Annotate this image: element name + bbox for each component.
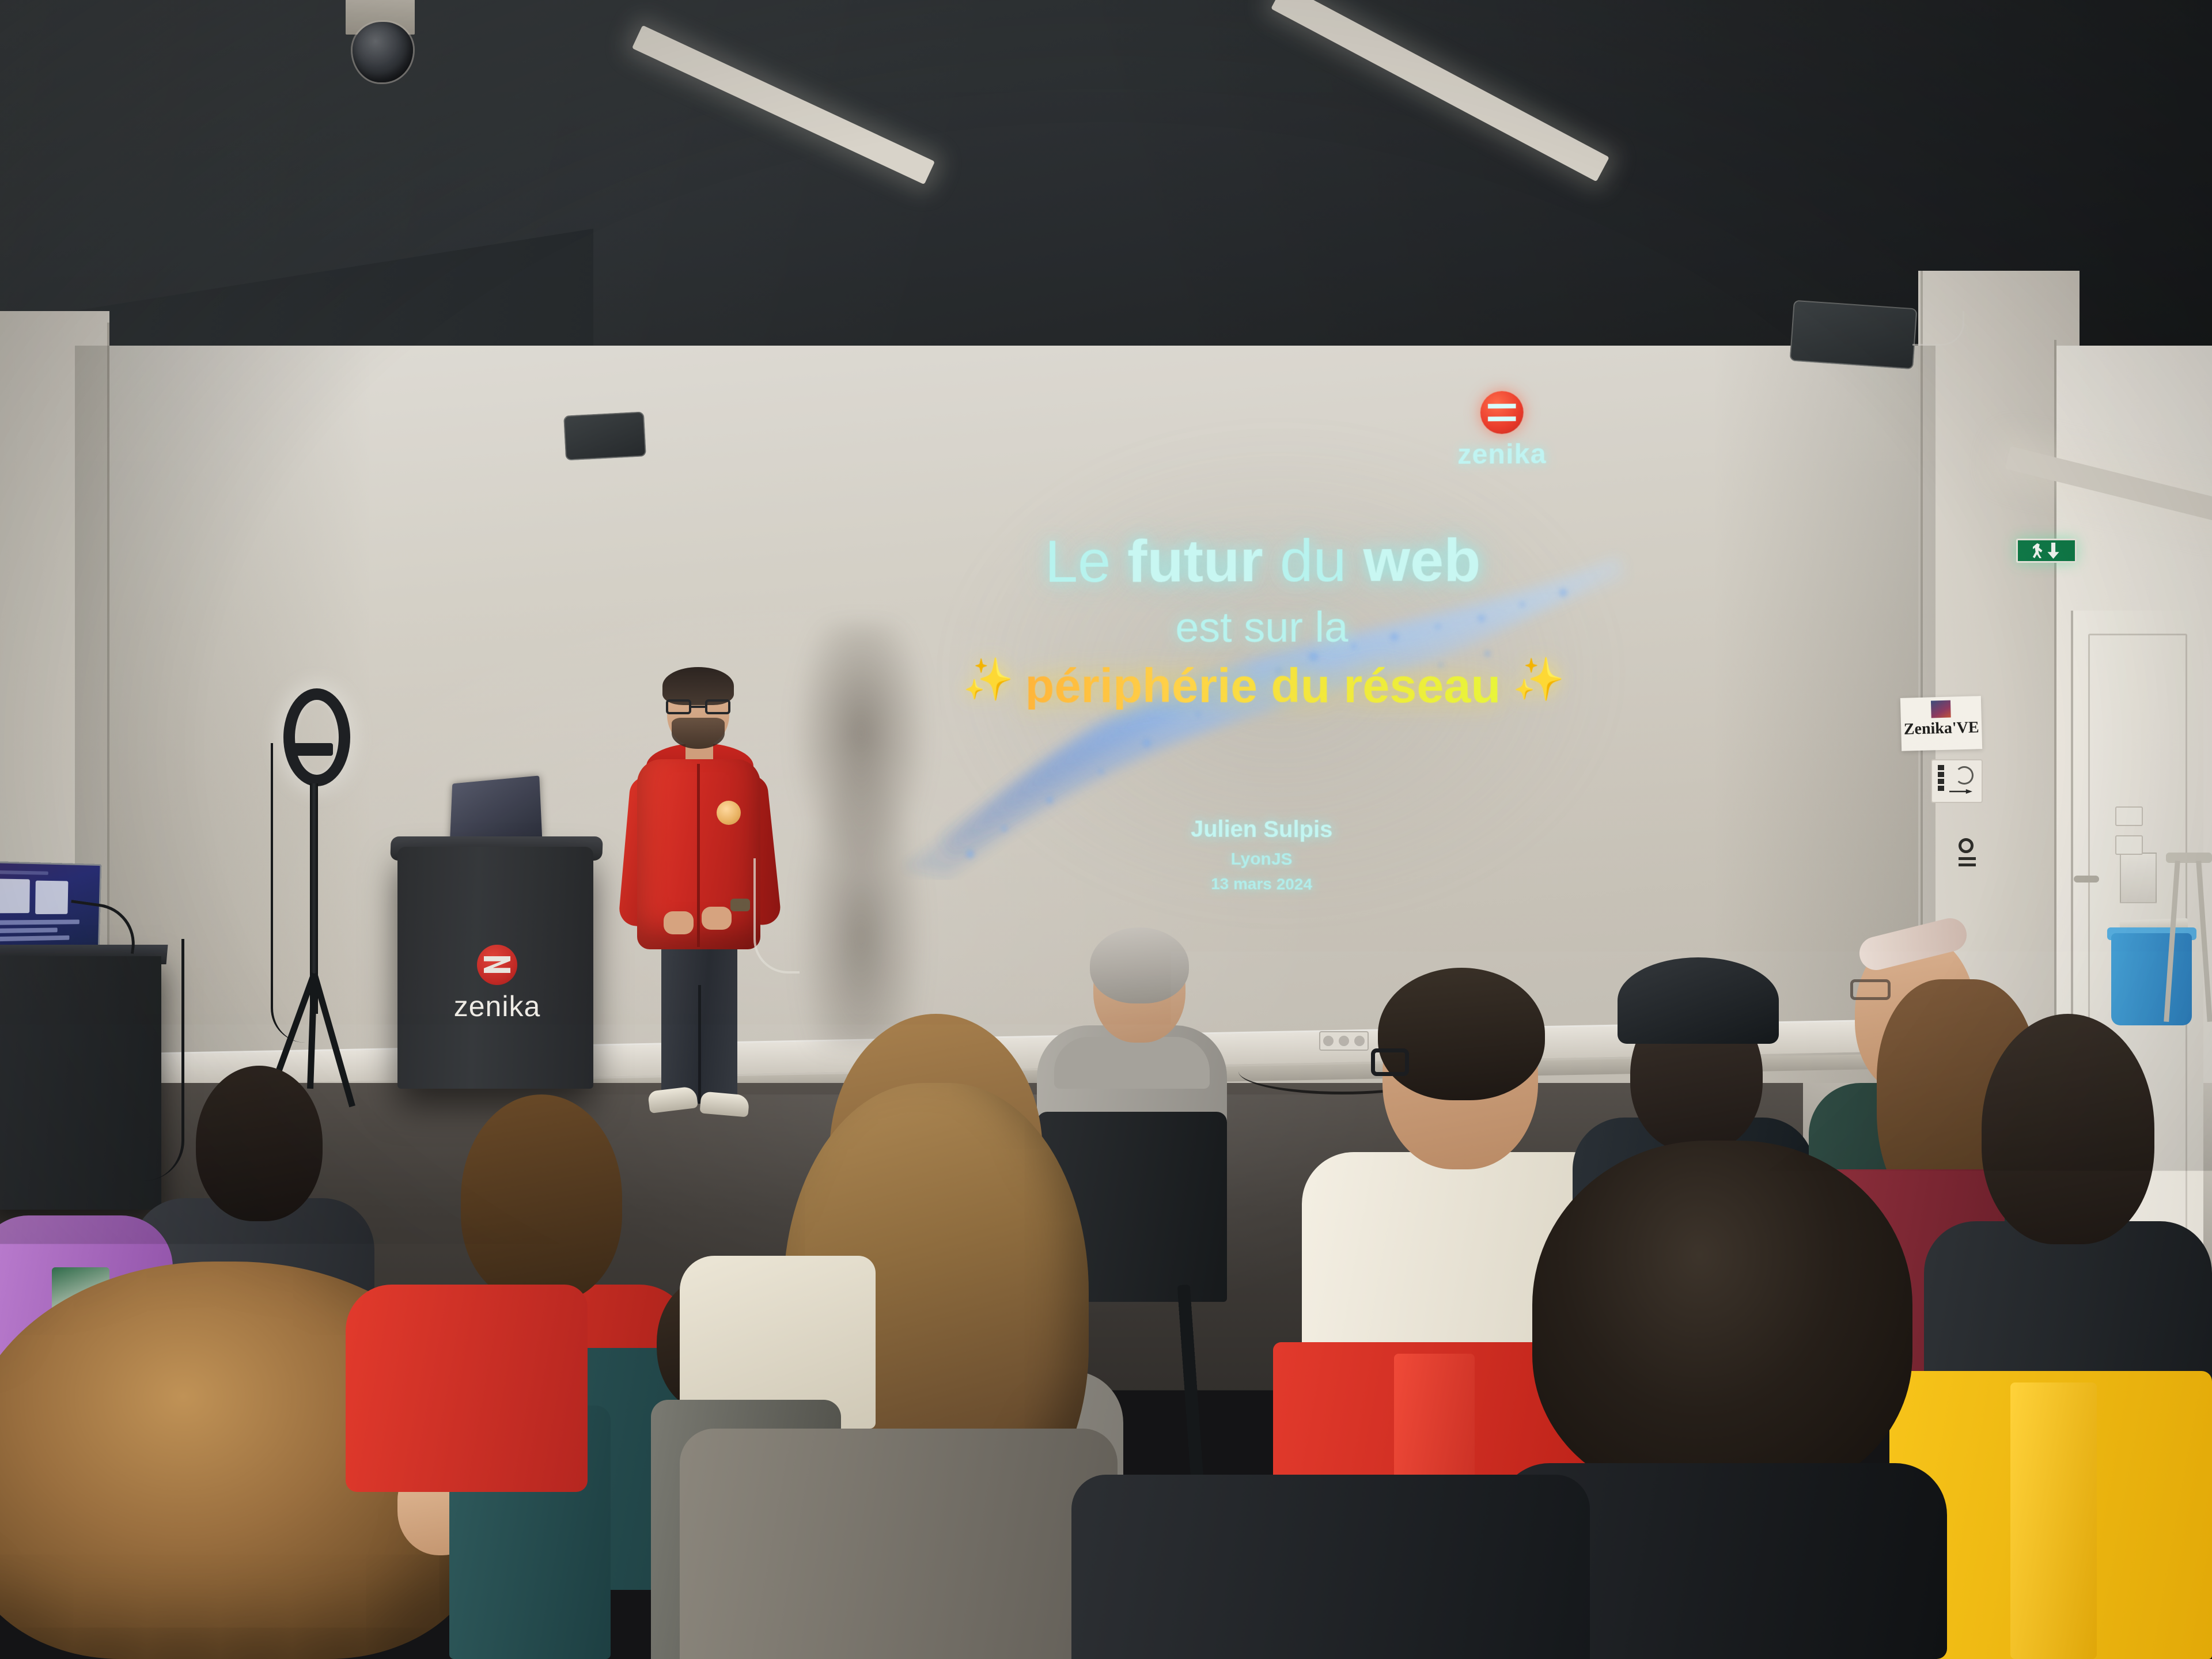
running-person-icon bbox=[2033, 543, 2044, 558]
hoodie-logo-badge bbox=[717, 801, 741, 825]
slide-zenika-logo: zenika bbox=[1449, 391, 1554, 471]
hoodie-zip bbox=[697, 764, 700, 947]
title-bold-futur: futur bbox=[1127, 528, 1263, 595]
zenika-wordmark: zenika bbox=[1449, 438, 1554, 471]
black-cap bbox=[1618, 957, 1779, 1044]
attendee-shoulder-coat bbox=[680, 1429, 1118, 1659]
sparkle-right-icon: ✨ bbox=[1513, 654, 1565, 704]
door-handle[interactable] bbox=[2074, 876, 2099, 882]
attendee-hair bbox=[1378, 968, 1545, 1100]
slide-title-line3-row: ✨ périphérie du réseau ✨ bbox=[857, 648, 1675, 710]
speaker-name: Julien Sulpis bbox=[857, 816, 1675, 844]
zenika-mark-icon bbox=[477, 945, 517, 985]
conference-room-photo: Zenika'VE bbox=[0, 0, 2212, 1659]
chair-back-slat bbox=[2010, 1382, 2097, 1659]
attendee-red-sleeve bbox=[346, 1285, 588, 1492]
presenter-hand bbox=[664, 911, 694, 934]
presenter-beard bbox=[672, 718, 725, 749]
wall-poster bbox=[2120, 853, 2157, 903]
attendee-hair bbox=[1982, 1014, 2154, 1244]
slide-title-line1: Le futur du web bbox=[857, 529, 1675, 592]
arrow-icon bbox=[1949, 789, 1972, 794]
sign-logo-icon bbox=[1931, 700, 1951, 718]
organization: LyonJS bbox=[857, 848, 1675, 871]
glasses-icon bbox=[666, 699, 730, 714]
glasses-icon bbox=[1371, 1048, 1409, 1076]
ring-light-cable bbox=[271, 743, 311, 1043]
glasses-icon bbox=[1850, 979, 1891, 1000]
title-plain-b: du bbox=[1263, 527, 1363, 594]
slide-title-line2: est sur la bbox=[857, 605, 1675, 649]
zenika-mark-icon bbox=[1480, 391, 1524, 434]
title-bold-web: web bbox=[1363, 527, 1481, 594]
stool-seat bbox=[2166, 853, 2212, 863]
slide-title-block: Le futur du web est sur la ✨ périphérie … bbox=[857, 529, 1675, 710]
microphone-cable bbox=[753, 858, 800, 974]
attendee-hair bbox=[1090, 927, 1189, 1003]
wall-speaker-left bbox=[563, 411, 646, 460]
emergency-exit-sign bbox=[2016, 539, 2077, 563]
wall-sticker bbox=[2115, 835, 2143, 855]
wristwatch bbox=[730, 899, 750, 911]
wall-sticker bbox=[2115, 806, 2143, 826]
presenter-hand bbox=[702, 907, 732, 930]
wall-sign-label: Zenika'VE bbox=[1901, 718, 1982, 739]
slide-credits: Julien Sulpis LyonJS 13 mars 2024 bbox=[857, 816, 1675, 896]
projected-slide: zenika Le futur du web est sur la ✨ péri… bbox=[857, 377, 1675, 994]
wall-speaker-right bbox=[1790, 300, 1918, 370]
podium-zenika-logo: zenika bbox=[442, 945, 552, 1023]
attendee-front-right-dark bbox=[1071, 1475, 1590, 1659]
trouser-seam bbox=[698, 985, 701, 1104]
slide-title-line3: périphérie du réseau bbox=[1025, 661, 1501, 710]
dial-icon bbox=[1955, 766, 1974, 785]
down-arrow-icon bbox=[2047, 543, 2061, 559]
zenika-wordmark: zenika bbox=[442, 990, 552, 1023]
wall-marking bbox=[1959, 838, 1985, 878]
attendee-hair bbox=[196, 1066, 323, 1221]
attendee-hair bbox=[461, 1094, 622, 1302]
title-plain-a: Le bbox=[1045, 528, 1127, 595]
attendee-hair bbox=[1532, 1141, 1912, 1498]
presenter-laptop-screen[interactable] bbox=[450, 775, 542, 842]
sparkle-left-icon: ✨ bbox=[963, 655, 1014, 703]
wall-control-plate[interactable] bbox=[1931, 759, 1983, 803]
wall-sign-zenika-ve: Zenika'VE bbox=[1900, 696, 1982, 751]
